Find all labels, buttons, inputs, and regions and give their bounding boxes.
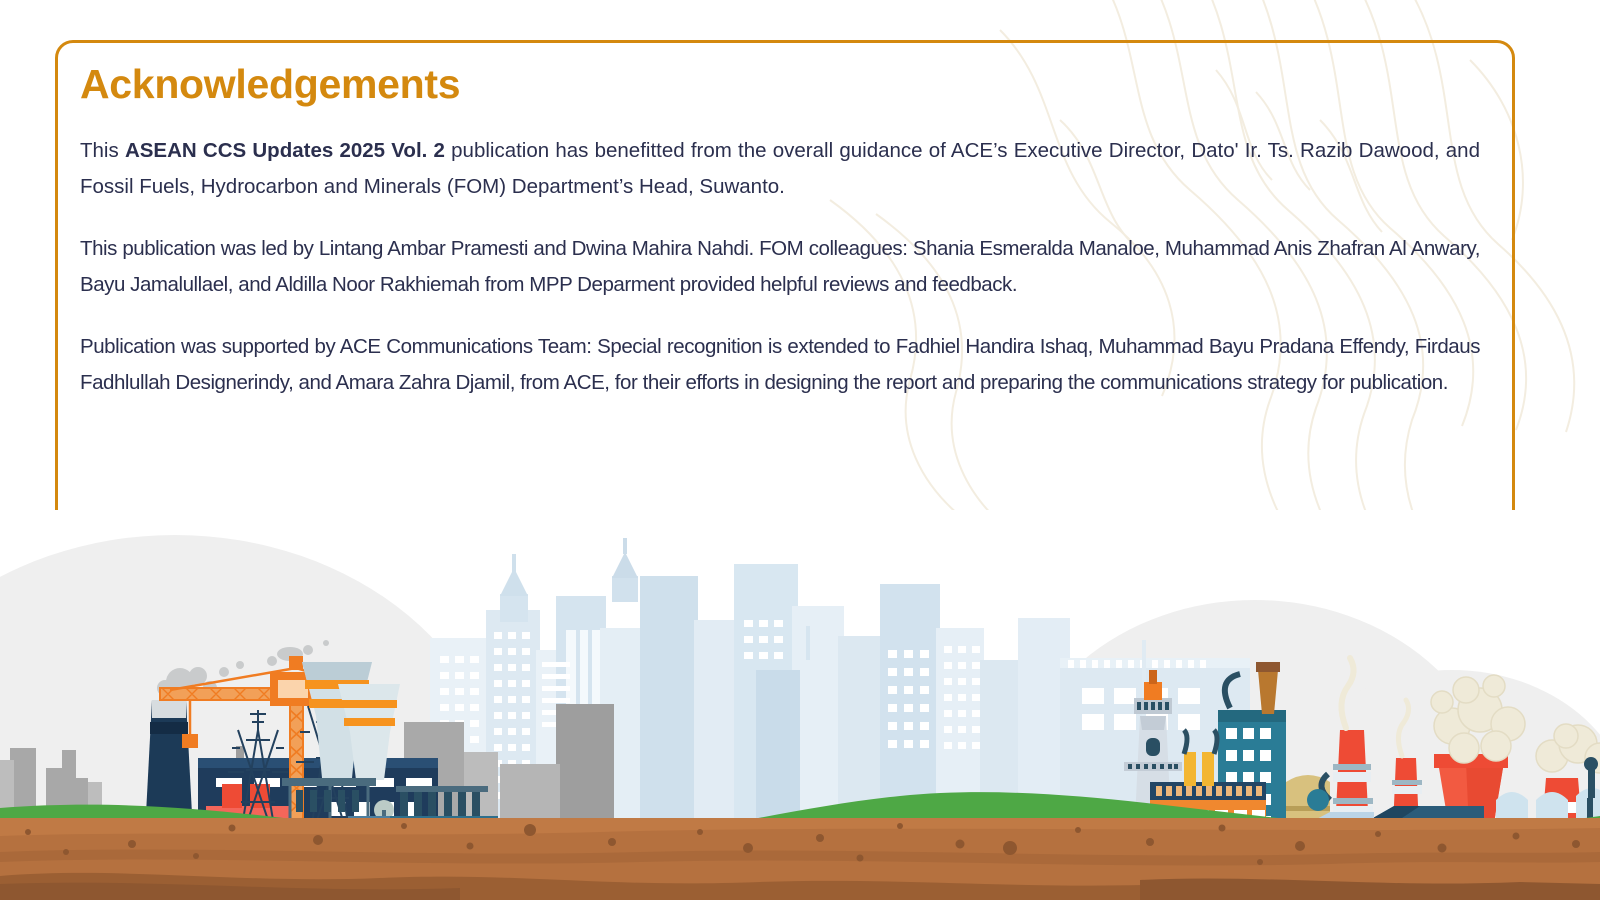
soil-strip — [0, 818, 1600, 900]
paragraph-authors: This publication was led by Lintang Amba… — [80, 231, 1480, 302]
page-title: Acknowledgements — [80, 62, 1480, 107]
paragraph-guidance: This ASEAN CCS Updates 2025 Vol. 2 publi… — [80, 133, 1480, 204]
slide-canvas: Acknowledgements This ASEAN CCS Updates … — [0, 0, 1600, 900]
acknowledgements-content: Acknowledgements This ASEAN CCS Updates … — [80, 62, 1480, 401]
paragraph-1-prefix: This — [80, 139, 125, 162]
publication-title-bold: ASEAN CCS Updates 2025 Vol. 2 — [125, 139, 445, 162]
paragraph-communications: Publication was supported by ACE Communi… — [80, 329, 1480, 400]
